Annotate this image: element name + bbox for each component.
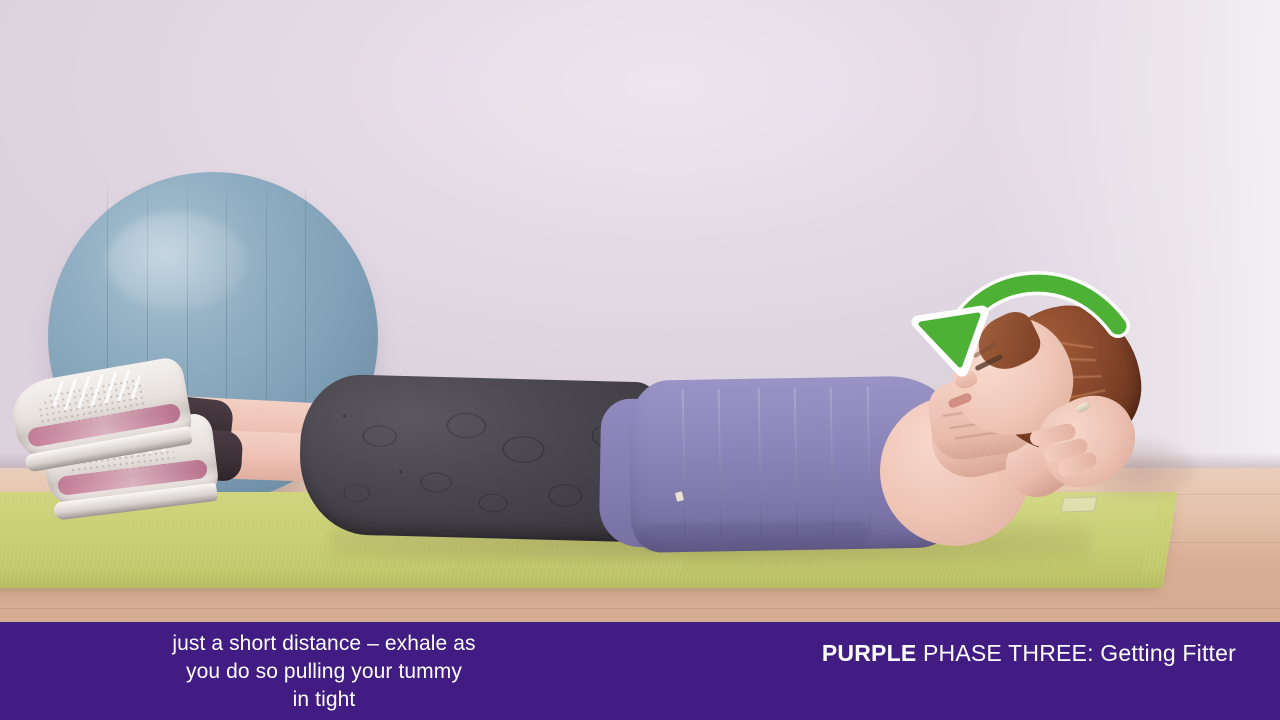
caption-banner: just a short distance – exhale as you do… — [0, 622, 1280, 720]
program-brand: PURPLE — [822, 640, 917, 666]
subtitle-line-1: just a short distance – exhale as — [24, 630, 624, 658]
subtitle-line-2: you do so pulling your tummy — [24, 658, 624, 686]
program-phase-label: PURPLE PHASE THREE: Getting Fitter — [822, 640, 1236, 667]
video-scene — [0, 0, 1280, 720]
subtitle-line-3: in tight — [24, 686, 624, 714]
subtitle-text: just a short distance – exhale as you do… — [24, 630, 624, 714]
video-player-frame: just a short distance – exhale as you do… — [0, 0, 1280, 720]
program-phase: PHASE THREE: Getting Fitter — [916, 640, 1236, 666]
person-exercising — [0, 0, 1280, 720]
